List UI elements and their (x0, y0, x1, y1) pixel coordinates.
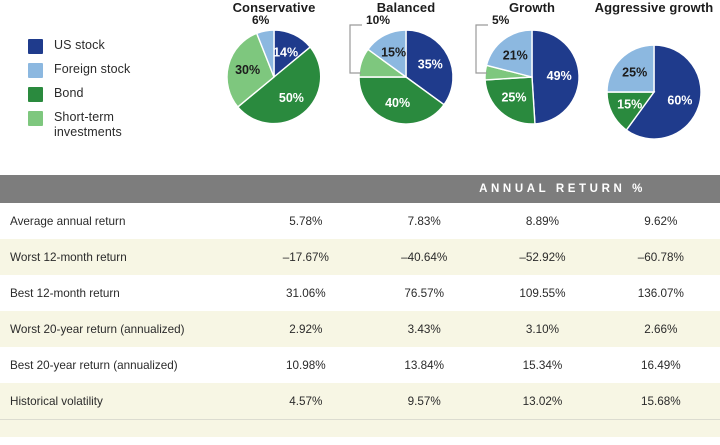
leader-path (476, 25, 488, 73)
pie-chart-aggressive-growth: Aggressive growth 60%15%25% (588, 0, 720, 158)
legend-item-bond: Bond (28, 86, 198, 102)
pie-holder: 14%50%30% 6% (208, 15, 340, 143)
row-value: 5.78% (247, 203, 365, 239)
charts-area: US stock Foreign stock Bond Short-term i… (0, 0, 720, 175)
table-row: Average annual return5.78%7.83%8.89%9.62… (0, 203, 720, 239)
row-value: 8.89% (483, 203, 601, 239)
chart-title: Conservative (208, 0, 340, 15)
callout-leader-line (340, 15, 472, 135)
row-value: 2.92% (247, 311, 365, 347)
row-value: 15.34% (483, 347, 601, 383)
pie-holder: 35%40%15% 10% (340, 15, 472, 143)
legend-item-label: Short-term investments (54, 110, 174, 140)
row-value: 9.62% (602, 203, 720, 239)
pie-chart-conservative: Conservative 14%50%30% 6% (208, 0, 340, 143)
row-value: 31.06% (247, 275, 365, 311)
pie-callout-label: 10% (366, 13, 390, 27)
pie-slice-label: 25% (622, 66, 647, 80)
pie-holder: 49%25%21% 5% (466, 15, 598, 143)
row-value: 16.49% (602, 347, 720, 383)
row-value: 4.57% (247, 383, 365, 419)
chart-title: Balanced (340, 0, 472, 15)
pie-callout-label: 5% (492, 13, 509, 27)
chart-title: Aggressive growth (588, 0, 720, 15)
annual-return-table: ANNUAL RETURN % Average annual return5.7… (0, 175, 720, 437)
pie-slice-label: 50% (279, 91, 304, 105)
pie-callout-label: 6% (252, 13, 269, 27)
row-value: 2.66% (602, 311, 720, 347)
row-value: 10.98% (247, 347, 365, 383)
color-swatch-icon (28, 63, 43, 78)
row-value: –52.92% (483, 239, 601, 275)
color-swatch-icon (28, 39, 43, 54)
legend-item-label: Foreign stock (54, 62, 130, 77)
row-value: 3.43% (365, 311, 483, 347)
table-row: Historical volatility4.57%9.57%13.02%15.… (0, 383, 720, 419)
leader-path (350, 25, 362, 73)
row-label: Historical volatility (0, 383, 247, 419)
row-label: Average annual return (0, 203, 247, 239)
row-label: Best 12-month return (0, 275, 247, 311)
row-label: Best 20-year return (annualized) (0, 347, 247, 383)
pie-slice-label: 15% (617, 97, 642, 111)
row-value: 15.68% (602, 383, 720, 419)
pie-slice-label: 14% (273, 45, 298, 59)
table-row: Worst 12-month return–17.67%–40.64%–52.9… (0, 239, 720, 275)
table-footer-strip (0, 419, 720, 437)
legend: US stock Foreign stock Bond Short-term i… (28, 38, 198, 148)
color-swatch-icon (28, 87, 43, 102)
row-label: Worst 12-month return (0, 239, 247, 275)
pie-chart-balanced: Balanced 35%40%15% 10% (340, 0, 472, 143)
pie-slice-label: 60% (667, 93, 692, 107)
row-value: 136.07% (602, 275, 720, 311)
row-value: 9.57% (365, 383, 483, 419)
table-header-band: ANNUAL RETURN % (0, 175, 720, 203)
row-label: Worst 20-year return (annualized) (0, 311, 247, 347)
pie-chart-growth: Growth 49%25%21% 5% (466, 0, 598, 143)
chart-title: Growth (466, 0, 598, 15)
table-header-title: ANNUAL RETURN % (479, 183, 646, 195)
legend-item-label: US stock (54, 38, 105, 53)
pie-slice-label: 30% (235, 63, 260, 77)
infographic-page: US stock Foreign stock Bond Short-term i… (0, 0, 720, 445)
pie-svg-conservative: 14%50%30% (208, 15, 340, 135)
row-value: –17.67% (247, 239, 365, 275)
table-row: Best 20-year return (annualized)10.98%13… (0, 347, 720, 383)
callout-leader-line (466, 15, 598, 135)
pie-svg-aggressive-growth: 60%15%25% (588, 30, 720, 150)
color-swatch-icon (28, 111, 43, 126)
legend-item-foreign-stock: Foreign stock (28, 62, 198, 78)
legend-item-us-stock: US stock (28, 38, 198, 54)
row-value: 7.83% (365, 203, 483, 239)
legend-item-short-term-investments: Short-term investments (28, 110, 198, 140)
table-row: Worst 20-year return (annualized)2.92%3.… (0, 311, 720, 347)
row-value: 109.55% (483, 275, 601, 311)
pie-holder: 60%15%25% (588, 30, 720, 158)
legend-item-label: Bond (54, 86, 84, 101)
row-value: 13.84% (365, 347, 483, 383)
row-value: –60.78% (602, 239, 720, 275)
row-value: 3.10% (483, 311, 601, 347)
row-value: 13.02% (483, 383, 601, 419)
returns-table: Average annual return5.78%7.83%8.89%9.62… (0, 203, 720, 419)
table-row: Best 12-month return31.06%76.57%109.55%1… (0, 275, 720, 311)
row-value: 76.57% (365, 275, 483, 311)
row-value: –40.64% (365, 239, 483, 275)
